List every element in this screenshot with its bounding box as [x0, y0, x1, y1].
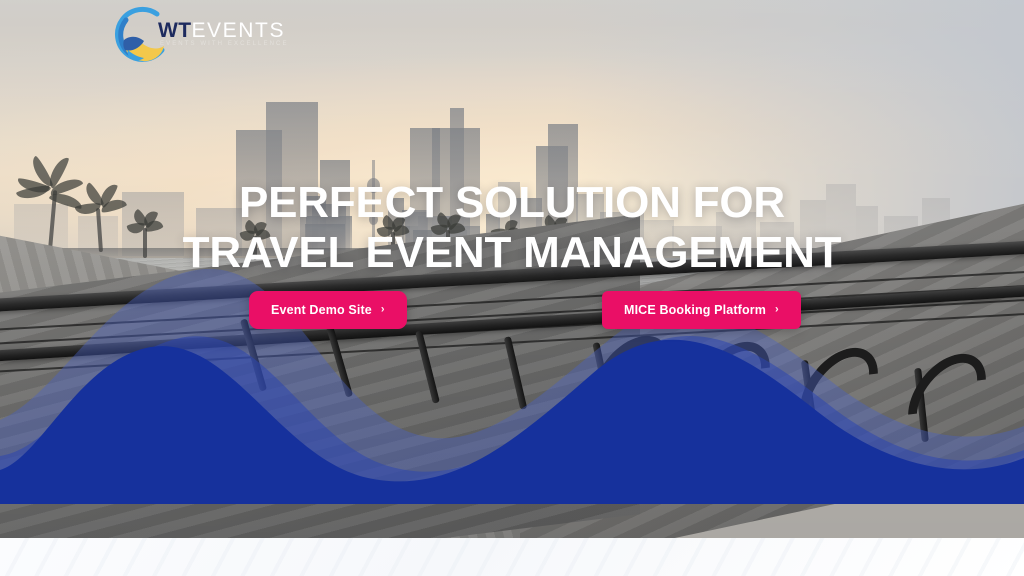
logo-wordmark-wt: WT: [158, 19, 191, 42]
headline-line-1: PERFECT SOLUTION FOR: [239, 178, 785, 227]
chevron-right-icon: ›: [775, 304, 779, 316]
chevron-right-icon: ›: [381, 304, 385, 316]
hero-copy: PERFECT SOLUTION FOR TRAVEL EVENT MANAGE…: [0, 178, 1024, 278]
headline-line-2: TRAVEL EVENT MANAGEMENT: [0, 228, 1024, 278]
mice-booking-platform-button[interactable]: MICE Booking Platform ›: [602, 291, 801, 329]
logo-wordmark-events: EVENTS: [191, 19, 285, 42]
site-logo[interactable]: WTEVENTS events with excellence: [112, 6, 252, 68]
logo-tagline: events with excellence: [160, 41, 289, 47]
event-demo-site-button[interactable]: Event Demo Site ›: [249, 291, 407, 329]
landing-page: WTEVENTS events with excellence PERFECT …: [0, 0, 1024, 576]
logo-wordmark: WTEVENTS: [158, 20, 285, 41]
mice-booking-platform-button-label: MICE Booking Platform: [624, 303, 766, 317]
hero-section: WTEVENTS events with excellence PERFECT …: [0, 0, 1024, 540]
next-section-strip: [0, 538, 1024, 576]
page-title: PERFECT SOLUTION FOR TRAVEL EVENT MANAGE…: [0, 178, 1024, 278]
event-demo-site-button-label: Event Demo Site: [271, 303, 372, 317]
